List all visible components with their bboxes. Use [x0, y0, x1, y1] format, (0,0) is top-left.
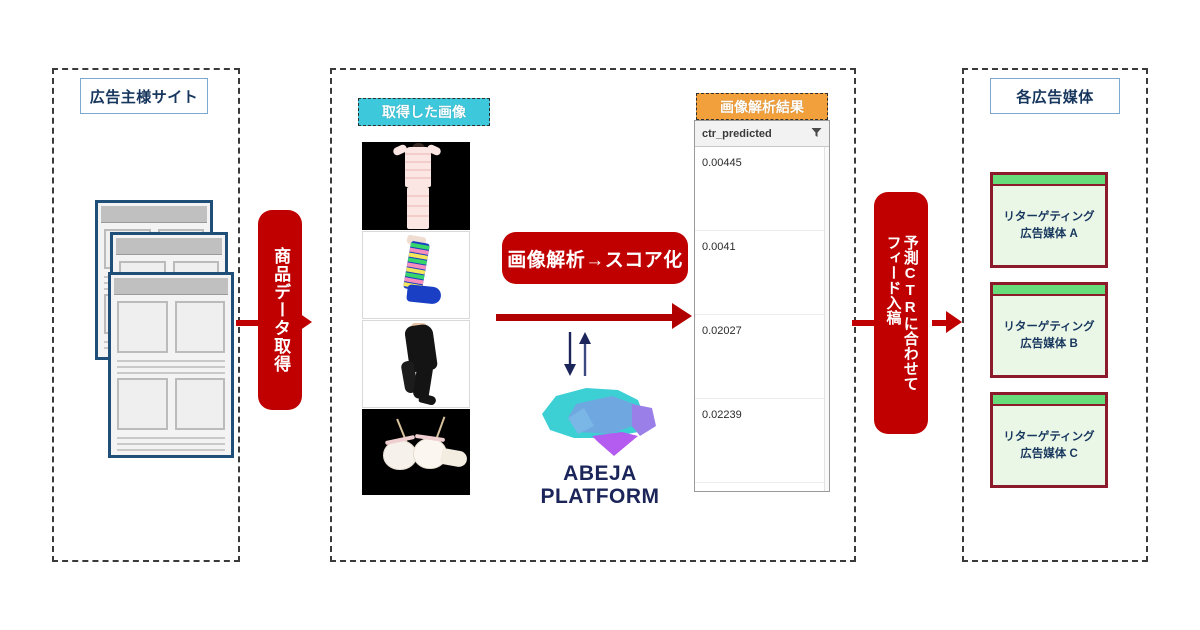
bra-band-shape	[440, 448, 468, 468]
flow-arrow-4-head	[946, 311, 962, 333]
table-scrollbar[interactable]	[824, 147, 829, 491]
sock-foot-shape	[406, 284, 442, 304]
sock-leg-shape	[403, 241, 430, 292]
panel-right-title: 各広告媒体	[990, 78, 1120, 114]
media-box-a[interactable]: リターゲティング広告媒体 A	[990, 172, 1108, 268]
tights-foot-shape	[418, 393, 437, 406]
cell-ctr-predicted: 0.02239	[702, 409, 742, 421]
table-row[interactable]: 0.0041	[695, 231, 829, 315]
mockup-text-line	[117, 443, 225, 445]
table-row[interactable]: 0.02027	[695, 315, 829, 399]
flow-arrow-3-shaft	[852, 320, 876, 326]
media-box-title-bar	[993, 395, 1105, 406]
pajama-pants-shape	[407, 187, 429, 229]
abeja-name-line-1: ABEJA	[510, 463, 690, 486]
table-body: 0.00445 0.0041 0.02027 0.02239	[695, 147, 829, 483]
cell-ctr-predicted: 0.00445	[702, 157, 742, 169]
panel-left-title: 広告主様サイト	[80, 78, 208, 114]
mockup-text-line	[117, 449, 225, 451]
mockup-image-block	[117, 301, 168, 353]
flow-step-1-label: 商品データ取得	[258, 210, 302, 410]
table-row[interactable]: 0.00445	[695, 147, 829, 231]
flow-arrow-2-head	[672, 303, 692, 329]
media-box-b-label: リターゲティング広告媒体 B	[993, 296, 1105, 375]
mockup-header-bar	[101, 206, 207, 223]
mockup-body	[111, 295, 231, 451]
abeja-brain-logo-icon	[534, 382, 666, 456]
column-header-ctr-predicted: ctr_predicted	[702, 128, 772, 140]
mockup-text-line	[117, 437, 225, 439]
diagram-canvas: 広告主様サイト	[0, 0, 1200, 630]
badge-analysis-result: 画像解析結果	[696, 93, 828, 120]
cell-ctr-predicted: 0.02027	[702, 325, 742, 337]
webpage-mockup-front	[108, 272, 234, 458]
media-box-a-label: リターゲティング広告媒体 A	[993, 186, 1105, 265]
abeja-name-line-2: PLATFORM	[510, 486, 690, 509]
abeja-platform-logo-group: ABEJA PLATFORM	[510, 382, 690, 502]
flow-arrow-2-shaft	[496, 314, 682, 321]
flow-step-3-label: 予測CTRに合わせて フィード入稿	[874, 192, 928, 434]
mockup-image-block	[175, 301, 226, 353]
product-image-pink-pajama-set	[362, 142, 470, 230]
mockup-image-block	[175, 378, 226, 430]
cell-ctr-predicted: 0.0041	[702, 241, 736, 253]
funnel-icon[interactable]	[811, 125, 822, 143]
media-box-b[interactable]: リターゲティング広告媒体 B	[990, 282, 1108, 378]
media-box-title-bar	[993, 175, 1105, 186]
flow-step-3-text-line-1: 予測CTRに合わせて	[902, 235, 918, 391]
product-image-white-bra	[362, 409, 470, 495]
table-row[interactable]: 0.02239	[695, 399, 829, 483]
media-box-c[interactable]: リターゲティング広告媒体 C	[990, 392, 1108, 488]
mockup-text-line	[117, 372, 225, 374]
mockup-image-block	[117, 378, 168, 430]
acquired-image-list	[362, 142, 470, 496]
mockup-header-bar	[114, 278, 228, 295]
callout-image-analysis-scoring: 画像解析→スコア化	[502, 232, 688, 284]
flow-step-3-text-line-2: フィード入稿	[884, 235, 900, 391]
mockup-image-row	[117, 378, 225, 430]
media-box-title-bar	[993, 285, 1105, 296]
badge-acquired-images: 取得した画像	[358, 98, 490, 126]
table-header-row: ctr_predicted	[695, 121, 829, 147]
pajama-top-shape	[405, 147, 431, 187]
mockup-header-bar	[116, 238, 222, 255]
product-image-striped-sock	[362, 231, 470, 319]
up-down-arrows-icon	[558, 330, 598, 378]
media-box-c-label: リターゲティング広告媒体 C	[993, 406, 1105, 485]
product-image-black-tights	[362, 320, 470, 408]
mockup-text-line	[117, 360, 225, 362]
mockup-text-line	[117, 366, 225, 368]
ctr-result-table[interactable]: ctr_predicted 0.00445 0.0041 0.02027 0.0…	[694, 120, 830, 492]
mockup-image-row	[117, 301, 225, 353]
flow-step-1-text: 商品データ取得	[271, 247, 289, 373]
